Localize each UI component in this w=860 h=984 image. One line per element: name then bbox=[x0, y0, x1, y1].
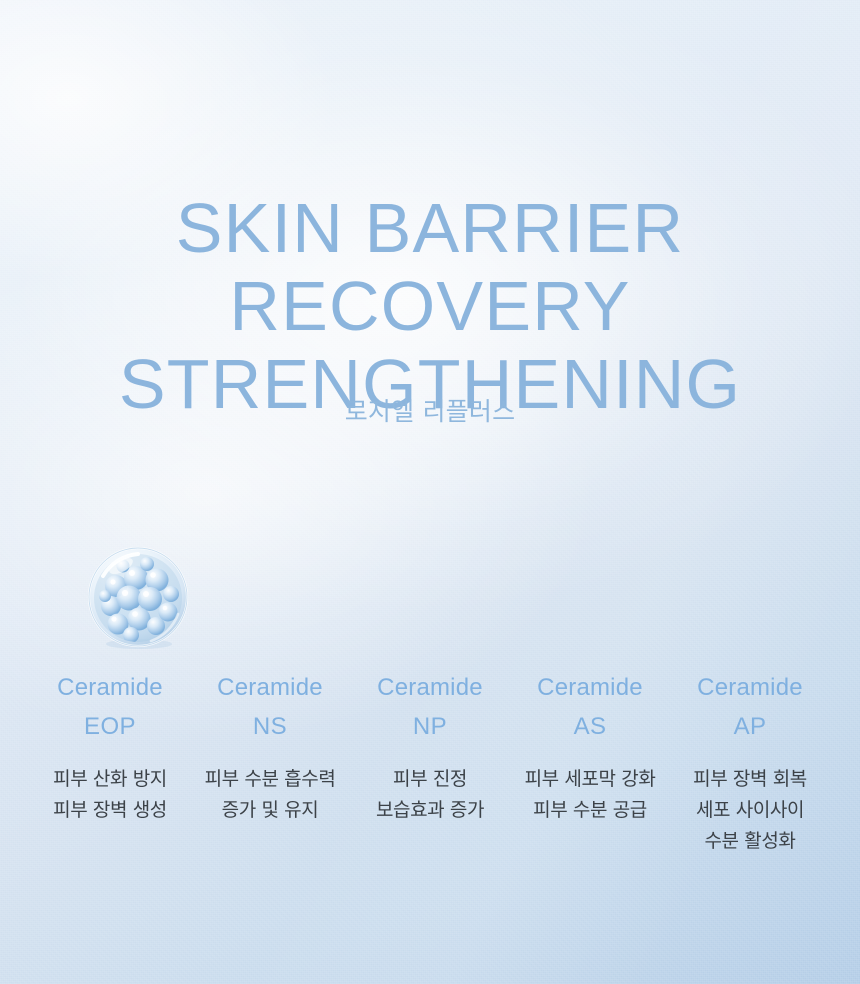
ceramide-capsule-sphere-icon bbox=[83, 542, 193, 652]
ceramide-label: Ceramide bbox=[34, 668, 186, 708]
brand-subtitle: 로지엘 리플러스 bbox=[0, 397, 860, 427]
ceramide-code: AS bbox=[514, 708, 666, 746]
ceramide-label: Ceramide bbox=[354, 668, 506, 708]
ceramide-code: EOP bbox=[34, 708, 186, 746]
ceramide-column-eop: Ceramide EOP 피부 산화 방지 피부 장벽 생성 bbox=[34, 668, 186, 857]
description-line: 피부 장벽 회복 bbox=[674, 764, 826, 795]
description-line: 증가 및 유지 bbox=[194, 795, 346, 826]
ceramide-columns: Ceramide EOP 피부 산화 방지 피부 장벽 생성 Ceramide … bbox=[0, 668, 860, 857]
ceramide-label: Ceramide bbox=[514, 668, 666, 708]
description-line: 피부 세포막 강화 bbox=[514, 764, 666, 795]
ceramide-column-as: Ceramide AS 피부 세포막 강화 피부 수분 공급 bbox=[514, 668, 666, 857]
ceramide-description: 피부 수분 흡수력 증가 및 유지 bbox=[194, 764, 346, 826]
ceramide-code: NP bbox=[354, 708, 506, 746]
description-line: 피부 수분 공급 bbox=[514, 795, 666, 826]
description-line: 피부 산화 방지 bbox=[34, 764, 186, 795]
ceramide-column-np: Ceramide NP 피부 진정 보습효과 증가 bbox=[354, 668, 506, 857]
description-line: 세포 사이사이 bbox=[674, 795, 826, 826]
description-line: 피부 수분 흡수력 bbox=[194, 764, 346, 795]
ceramide-description: 피부 진정 보습효과 증가 bbox=[354, 764, 506, 826]
ceramide-code: AP bbox=[674, 708, 826, 746]
ceramide-description: 피부 세포막 강화 피부 수분 공급 bbox=[514, 764, 666, 826]
ceramide-description: 피부 산화 방지 피부 장벽 생성 bbox=[34, 764, 186, 826]
description-line: 피부 진정 bbox=[354, 764, 506, 795]
page-title: SKIN BARRIER RECOVERY STRENGTHENING bbox=[0, 189, 860, 423]
description-line: 피부 장벽 생성 bbox=[34, 795, 186, 826]
ceramide-label: Ceramide bbox=[674, 668, 826, 708]
ceramide-column-ap: Ceramide AP 피부 장벽 회복 세포 사이사이 수분 활성화 bbox=[674, 668, 826, 857]
ceramide-label: Ceramide bbox=[194, 668, 346, 708]
ceramide-description: 피부 장벽 회복 세포 사이사이 수분 활성화 bbox=[674, 764, 826, 857]
description-line: 수분 활성화 bbox=[674, 826, 826, 857]
headline-line-1: SKIN BARRIER bbox=[0, 189, 860, 267]
ceramide-code: NS bbox=[194, 708, 346, 746]
headline-line-2: RECOVERY bbox=[0, 267, 860, 345]
description-line: 보습효과 증가 bbox=[354, 795, 506, 826]
skin-barrier-promo-poster: SKIN BARRIER RECOVERY STRENGTHENING 로지엘 … bbox=[0, 0, 860, 984]
ceramide-column-ns: Ceramide NS 피부 수분 흡수력 증가 및 유지 bbox=[194, 668, 346, 857]
